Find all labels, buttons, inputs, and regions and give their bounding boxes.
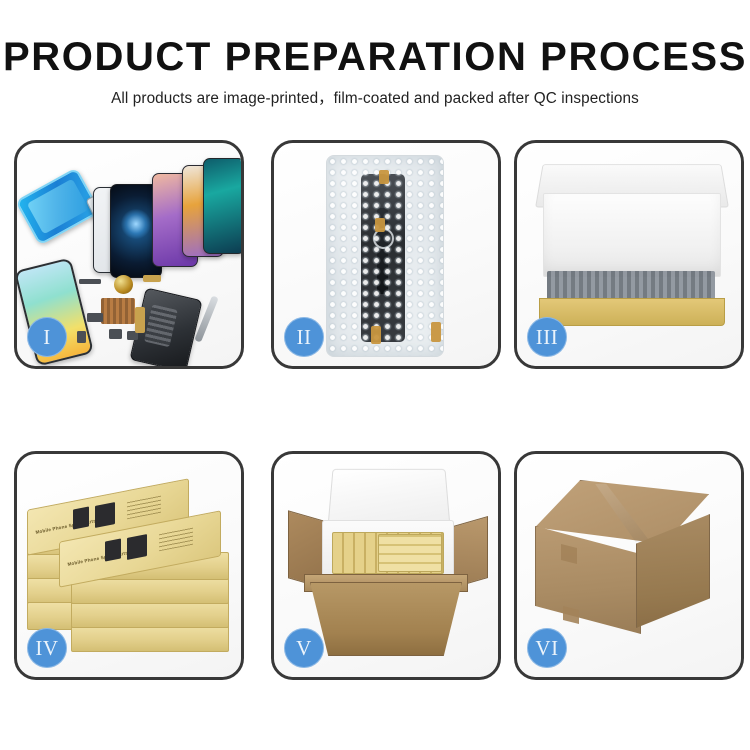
carton-front-face bbox=[535, 526, 641, 634]
process-step-5: V bbox=[271, 451, 501, 680]
flex-cable bbox=[135, 307, 145, 333]
phone-teal-display bbox=[203, 158, 241, 254]
box-window-black bbox=[127, 534, 147, 560]
chip-part bbox=[77, 331, 86, 343]
bubble-texture bbox=[327, 156, 443, 356]
foam-padding bbox=[543, 193, 721, 277]
kraft-boxes-inside bbox=[378, 534, 442, 572]
logic-board bbox=[101, 298, 135, 324]
step-badge-5: V bbox=[284, 628, 324, 668]
tape-tab bbox=[371, 326, 381, 344]
gold-component bbox=[114, 275, 133, 294]
product-preparation-infographic: PRODUCT PREPARATION PROCESS All products… bbox=[0, 0, 750, 750]
chip-part bbox=[109, 329, 122, 339]
process-step-grid: I II bbox=[14, 140, 740, 680]
step-badge-2: II bbox=[284, 317, 324, 357]
step-badge-4: IV bbox=[27, 628, 67, 668]
stacked-box bbox=[71, 624, 229, 652]
page-title: PRODUCT PREPARATION PROCESS bbox=[0, 34, 750, 80]
header: PRODUCT PREPARATION PROCESS All products… bbox=[0, 34, 750, 109]
process-step-2: II bbox=[271, 140, 501, 369]
box-window-black bbox=[95, 502, 115, 528]
step-badge-6: VI bbox=[527, 628, 567, 668]
process-step-3: III bbox=[514, 140, 744, 369]
chip-part bbox=[79, 279, 101, 284]
page-subtitle: All products are image-printed，film-coat… bbox=[0, 89, 750, 109]
process-step-4: Mobile Phone Spare Parts Mobile Phone Sp… bbox=[14, 451, 244, 680]
step-badge-3: III bbox=[527, 317, 567, 357]
carton-body bbox=[310, 582, 462, 656]
flex-cable bbox=[143, 275, 161, 282]
process-step-1: I bbox=[14, 140, 244, 369]
bubble-wrap-pouch bbox=[326, 155, 444, 357]
tape-tab bbox=[431, 322, 441, 342]
stacked-box bbox=[71, 600, 229, 628]
process-step-6: VI bbox=[514, 451, 744, 680]
chip-part bbox=[87, 313, 103, 322]
step-badge-1: I bbox=[27, 317, 67, 357]
tape-patch bbox=[563, 606, 579, 624]
tray-front-wall bbox=[539, 298, 725, 326]
tape-tab bbox=[379, 170, 389, 184]
tape-tab bbox=[375, 218, 385, 232]
box-window-black bbox=[73, 506, 89, 529]
box-window-black bbox=[105, 538, 121, 561]
